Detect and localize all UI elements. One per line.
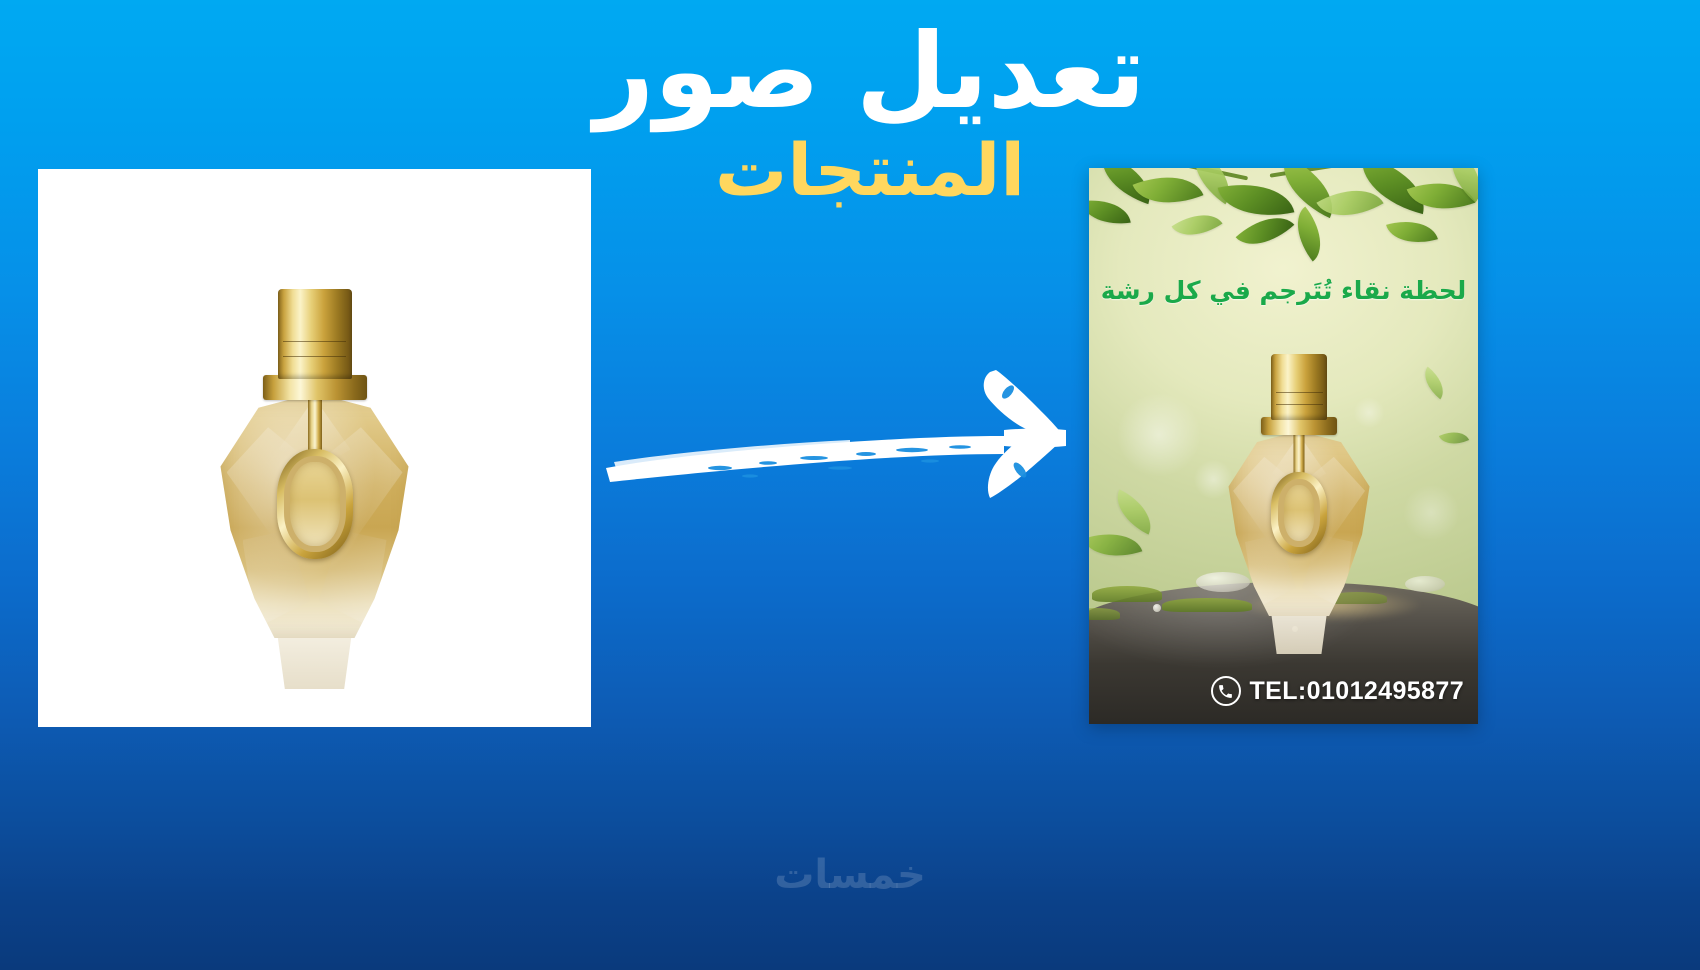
bottle-cap bbox=[1271, 354, 1327, 420]
after-image-card: لحظة نقاء تُتَرجم في كل رشة bbox=[1089, 168, 1478, 724]
page-title: تعديل صور bbox=[560, 10, 1180, 133]
site-watermark: خمسات bbox=[0, 852, 1700, 898]
promo-banner: تعديل صور المنتجات bbox=[0, 0, 1700, 970]
phone-icon bbox=[1211, 676, 1241, 706]
bottle-cap bbox=[278, 289, 352, 379]
page-subtitle: المنتجات bbox=[560, 129, 1180, 212]
poster-tagline: لحظة نقاء تُتَرجم في كل رشة bbox=[1089, 276, 1478, 305]
perfume-bottle-after bbox=[1216, 354, 1382, 654]
contact-phone-row[interactable]: TEL:01012495877 bbox=[1211, 676, 1464, 706]
phone-number-label: TEL:01012495877 bbox=[1250, 677, 1464, 706]
bottle-oval-pendant bbox=[277, 449, 353, 559]
headline-block: تعديل صور المنتجات bbox=[560, 10, 1180, 212]
before-image-card bbox=[38, 169, 591, 727]
bottle-oval-pendant bbox=[1271, 472, 1327, 554]
brush-arrow-right bbox=[600, 358, 1080, 518]
perfume-bottle-before bbox=[200, 289, 430, 689]
